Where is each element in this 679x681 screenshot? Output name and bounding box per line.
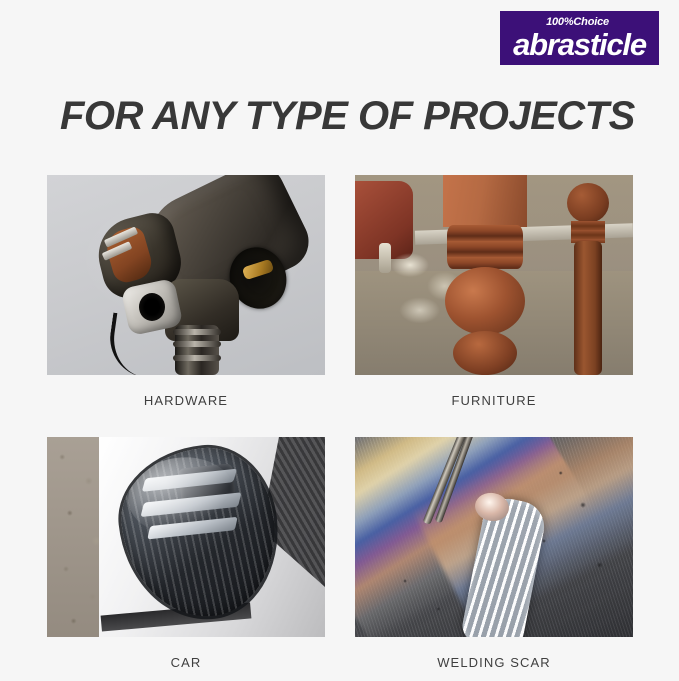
leg-turned-rings-shape — [447, 225, 523, 269]
cable-shape — [105, 313, 153, 375]
gallery-caption-car: CAR — [47, 637, 325, 681]
project-type-gallery: HARDWARE FURNITURE — [47, 175, 633, 681]
leg-foot-shape — [453, 331, 517, 375]
rear-leg-shaft-shape — [574, 241, 602, 375]
furniture-photo — [355, 175, 633, 375]
page-title: FOR ANY TYPE OF PROJECTS — [60, 94, 635, 139]
stem-ring-two-shape — [173, 341, 221, 347]
hardware-photo — [47, 175, 325, 375]
rear-table-leg — [567, 183, 609, 375]
brand-tagline: 100%Choice — [546, 17, 609, 28]
stem-ring-three-shape — [173, 355, 221, 361]
welding-scar-photo — [355, 437, 633, 637]
rear-leg-rings-shape — [571, 221, 605, 243]
gallery-caption-furniture: FURNITURE — [355, 375, 633, 419]
car-photo — [47, 437, 325, 637]
gallery-caption-hardware: HARDWARE — [47, 375, 325, 419]
stem-ring-one-shape — [173, 329, 221, 335]
gallery-caption-welding-scar: WELDING SCAR — [355, 637, 633, 681]
gallery-item-furniture: FURNITURE — [355, 175, 633, 419]
rear-leg-knob-shape — [567, 183, 609, 223]
brand-name: abrasticle — [513, 29, 646, 60]
gallery-item-hardware: HARDWARE — [47, 175, 325, 419]
leg-top-block-shape — [443, 175, 527, 227]
gallery-item-welding-scar: WELDING SCAR — [355, 437, 633, 681]
gallery-item-car: CAR — [47, 437, 325, 681]
brand-logo-badge: 100%Choice abrasticle — [500, 11, 659, 65]
leg-bulb-shape — [445, 267, 525, 335]
headlight-assembly-shape — [115, 442, 284, 625]
front-table-leg — [443, 175, 527, 375]
